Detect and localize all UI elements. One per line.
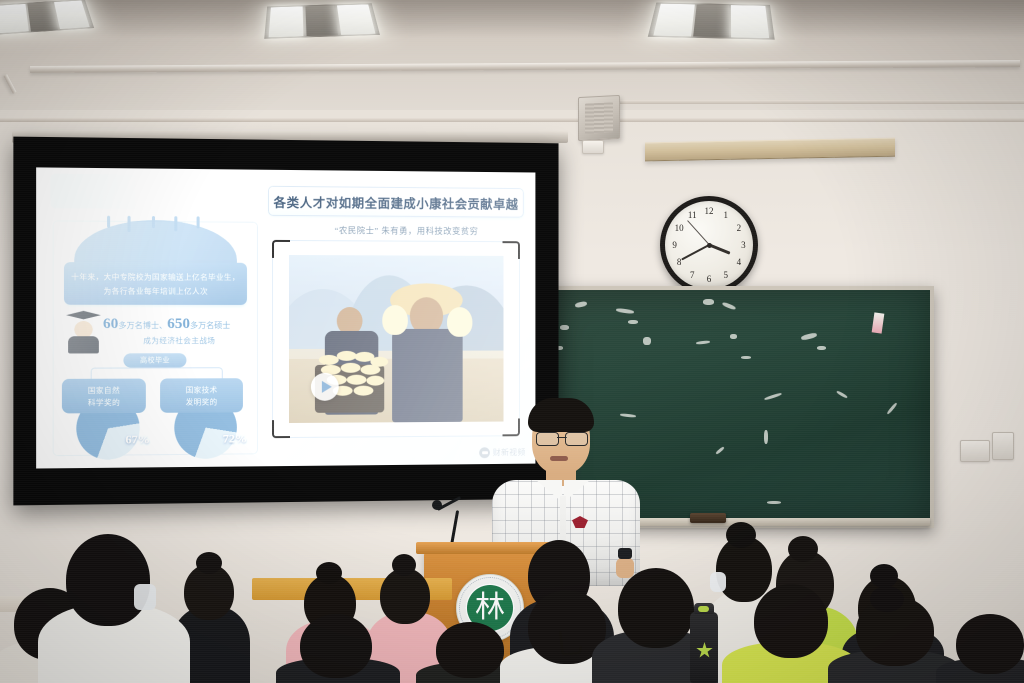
presentation-slide: 各类人才对如期全面建成小康社会贡献卓越 “农民院士” 朱有勇，用科技改变贫穷 十… — [36, 167, 535, 468]
eyeglasses-icon — [536, 432, 588, 444]
clock-number: 4 — [737, 257, 742, 267]
doctorate-count: 60 — [103, 316, 118, 332]
pie-chart-block-1: 国家自然 科学奖的 67% — [62, 379, 154, 455]
video-thumbnail-card[interactable] — [272, 240, 520, 438]
pie-2-label-line2: 发明奖的 — [186, 396, 218, 407]
graduate-icon — [66, 311, 101, 354]
pie-2-label-line1: 国家技术 — [186, 384, 218, 395]
lecture-hall-scene: 12 1 2 3 4 5 6 7 8 9 10 11 — [0, 0, 1024, 683]
pie-2-percent: 72% — [223, 431, 247, 446]
student-front-right-3 — [840, 596, 948, 683]
clock-center-hub — [707, 243, 712, 248]
wall-speaker — [578, 95, 620, 141]
clock-number: 7 — [690, 270, 695, 280]
student-head — [436, 622, 504, 678]
student-front-left-2 — [52, 532, 174, 683]
pie-1-label-line1: 国家自然 — [88, 384, 120, 395]
bottle-accent — [698, 606, 709, 612]
play-button[interactable] — [311, 373, 339, 401]
mic-capsule — [432, 500, 442, 510]
play-icon — [321, 381, 331, 393]
wall-moulding-lower — [580, 100, 1024, 104]
pie-1-label: 国家自然 科学奖的 — [62, 379, 146, 414]
clock-number: 10 — [675, 223, 684, 233]
corner-bracket-tr — [503, 241, 520, 259]
lens-left — [536, 432, 559, 446]
emblem-glyph: 林 — [475, 593, 505, 623]
student-head — [956, 614, 1024, 674]
pie-1-label-line2: 科学奖的 — [88, 396, 120, 407]
graduate-gown — [68, 336, 99, 353]
face-mask — [710, 572, 726, 592]
lens-right — [565, 432, 588, 446]
corner-bracket-bl — [272, 420, 290, 438]
clock-minute-hand — [681, 244, 709, 260]
clock-number: 6 — [707, 274, 712, 284]
ceiling-shadow — [0, 0, 1024, 38]
degree-statistic: 60多万名博士、650多万名硕士 — [103, 315, 251, 333]
slide-decor-bar — [51, 174, 204, 210]
slide-title: 各类人才对如期全面建成小康社会贡献卓越 — [268, 186, 524, 218]
clock-second-hand — [687, 220, 710, 245]
clock-number: 12 — [705, 206, 714, 216]
ceiling-light-2 — [264, 3, 380, 39]
clock-number: 2 — [737, 223, 742, 233]
blackboard-eraser — [690, 513, 726, 523]
board-paper-note — [872, 313, 885, 334]
master-count: 650 — [167, 316, 190, 332]
light-diffuser — [693, 4, 729, 37]
projection-screen: 各类人才对如期全面建成小康社会贡献卓越 “农民院士” 朱有勇，用科技改变贫穷 十… — [13, 137, 558, 506]
light-switch-plate-1[interactable] — [992, 432, 1014, 460]
light-tube — [653, 4, 694, 36]
category-chip: 高校毕业 — [123, 353, 186, 367]
corner-bracket-tl — [272, 240, 290, 258]
light-tube — [337, 4, 375, 34]
light-tube — [54, 0, 89, 29]
hair-bun — [196, 552, 222, 574]
lecturer-mouth — [550, 456, 568, 461]
photo-farmer-2 — [386, 281, 468, 422]
pie-chart-block-2: 国家技术 发明奖的 72% — [160, 378, 251, 453]
student-front-far-right — [944, 614, 1024, 683]
hair-bun — [870, 586, 904, 612]
infographic-card: 十年来，大中专院校为国家输送上亿名毕业生， 为各行各业每年培训上亿人次 60多万… — [53, 220, 258, 456]
graduation-cap-icon — [66, 311, 101, 321]
lecturer-hair — [528, 398, 594, 432]
statistic-subtext: 成为经济社会主战场 — [103, 335, 255, 346]
wristwatch — [618, 548, 632, 559]
wall-clock: 12 1 2 3 4 5 6 7 8 9 10 11 — [660, 196, 758, 294]
student-head — [754, 584, 828, 658]
category-chip-label: 高校毕业 — [140, 355, 170, 365]
shirt-graphic-icon: 乚 — [553, 629, 586, 666]
photo-farmer-1 — [323, 307, 382, 419]
hair-bun — [392, 554, 416, 576]
student-front-mid-1 — [286, 614, 386, 683]
clock-number: 3 — [741, 240, 746, 250]
student-head — [380, 568, 430, 624]
light-diffuser — [27, 2, 58, 31]
wall-plate-small — [582, 140, 604, 154]
banner-line-2: 为各行各业每年培训上亿人次 — [104, 285, 208, 296]
infographic-banner: 十年来，大中专院校为国家输送上亿名毕业生， 为各行各业每年培训上亿人次 — [64, 262, 247, 305]
student-head — [66, 534, 150, 626]
speaker-grille — [585, 102, 614, 134]
student-head — [618, 568, 694, 648]
light-diffuser — [305, 5, 338, 36]
light-tube — [731, 5, 769, 38]
light-switch-plate-2[interactable] — [960, 440, 990, 462]
master-unit: 多万名硕士 — [190, 321, 230, 330]
slide-title-text: 各类人才对如期全面建成小康社会贡献卓越 — [274, 191, 519, 212]
hair-bun — [788, 536, 818, 562]
banner-line-1: 十年来，大中专院校为国家输送上亿名毕业生， — [71, 271, 240, 283]
hair-bun — [726, 522, 756, 548]
slide-subcaption: “农民院士” 朱有勇，用科技改变贫穷 — [298, 224, 514, 237]
pie-1-percent: 67% — [125, 432, 149, 447]
student-head — [300, 614, 372, 678]
hair-bun — [316, 562, 342, 584]
clock-number: 9 — [672, 240, 677, 250]
ceiling-light-3 — [648, 3, 775, 40]
doctorate-unit: 多万名博士、 — [118, 321, 167, 330]
clock-number: 5 — [723, 270, 728, 280]
hair-bun — [870, 564, 898, 588]
farmers-photo — [289, 255, 503, 423]
clock-hour-hand — [708, 244, 730, 255]
star-icon — [696, 642, 713, 659]
light-tube — [269, 6, 304, 37]
pie-2-label: 国家技术 发明奖的 — [160, 378, 243, 413]
face-mask — [134, 584, 156, 610]
water-bottle — [690, 612, 718, 683]
clock-number: 1 — [723, 210, 728, 220]
wall-moulding-upper — [0, 118, 1024, 122]
light-tube — [0, 4, 28, 33]
student-front-right-1 — [604, 568, 704, 683]
clock-number: 11 — [688, 210, 697, 220]
